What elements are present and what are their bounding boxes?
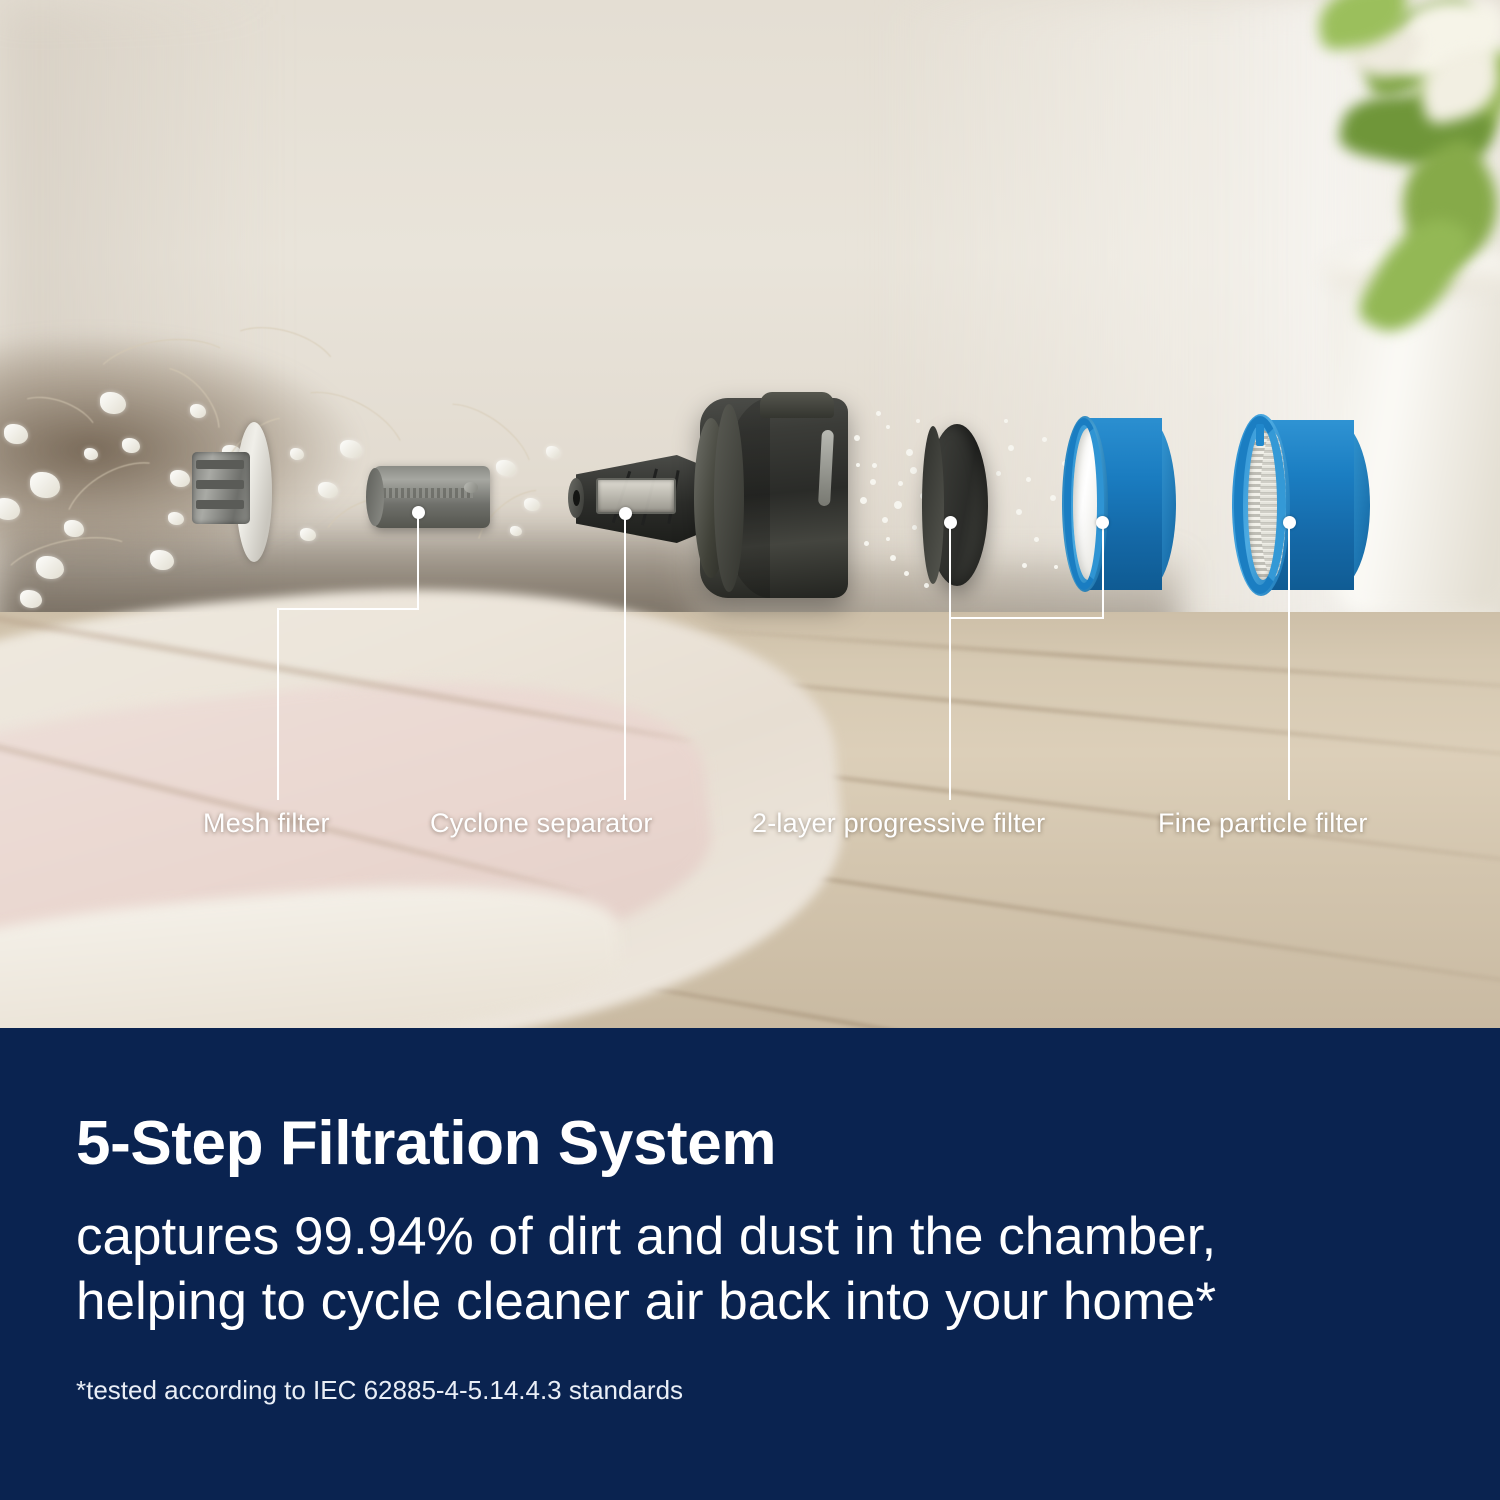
progressive-filter-leader: [949, 522, 951, 800]
cyclone-body-tab: [760, 392, 834, 418]
cyclone-separator-leader: [624, 513, 626, 800]
fine-particle-filter-spine: [1256, 424, 1264, 446]
debris-particle: [318, 482, 338, 498]
mesh-filter-slot: [196, 500, 244, 509]
callout-label-progressive-filter: 2-layer progressive filter: [752, 808, 1045, 839]
mesh-filter-end-cap: [366, 468, 384, 526]
mesh-filter-port: [464, 482, 478, 493]
callout-label-mesh-filter: Mesh filter: [203, 808, 330, 839]
callout-label-fine-particle-filter: Fine particle filter: [1158, 808, 1368, 839]
foam-filter-callout-dot: [1096, 516, 1109, 529]
mesh-filter-leader-drop: [277, 608, 279, 800]
callout-label-cyclone-separator: Cyclone separator: [430, 808, 653, 839]
footnote: *tested according to IEC 62885-4-5.14.4.…: [76, 1375, 683, 1406]
debris-particle: [122, 438, 140, 453]
mesh-filter-ridges: [383, 488, 473, 498]
cyclone-separator-window: [596, 478, 676, 514]
foam-filter-leader-branch: [1102, 522, 1104, 618]
subheadline: captures 99.94% of dirt and dust in the …: [76, 1205, 1216, 1334]
progressive-filter-face: [922, 426, 944, 584]
subheadline-line-2: helping to cycle cleaner air back into y…: [76, 1270, 1216, 1335]
debris-particle: [168, 512, 184, 525]
photo-scene: Mesh filter Cyclone separator 2-layer pr…: [0, 0, 1500, 1028]
mesh-filter-slot: [196, 480, 244, 489]
mesh-filter-slot: [196, 460, 244, 469]
exploded-parts: [0, 0, 1500, 1028]
debris-particle: [546, 446, 560, 458]
cyclone-body-second-lip: [714, 404, 744, 592]
headline: 5-Step Filtration System: [76, 1108, 776, 1179]
debris-particle: [300, 528, 316, 541]
subheadline-line-1: captures 99.94% of dirt and dust in the …: [76, 1207, 1216, 1266]
cyclone-separator-inlet-hole: [573, 490, 580, 506]
product-feature-image: Mesh filter Cyclone separator 2-layer pr…: [0, 0, 1500, 1500]
mesh-filter-leader-vertical: [417, 512, 419, 610]
debris-particle: [150, 550, 174, 570]
foam-filter-rim-edge: [1064, 418, 1104, 590]
progressive-filter-branch-horizontal: [949, 617, 1104, 619]
mesh-filter-leader-horizontal: [277, 608, 419, 610]
fine-particle-filter-leader: [1288, 522, 1290, 800]
